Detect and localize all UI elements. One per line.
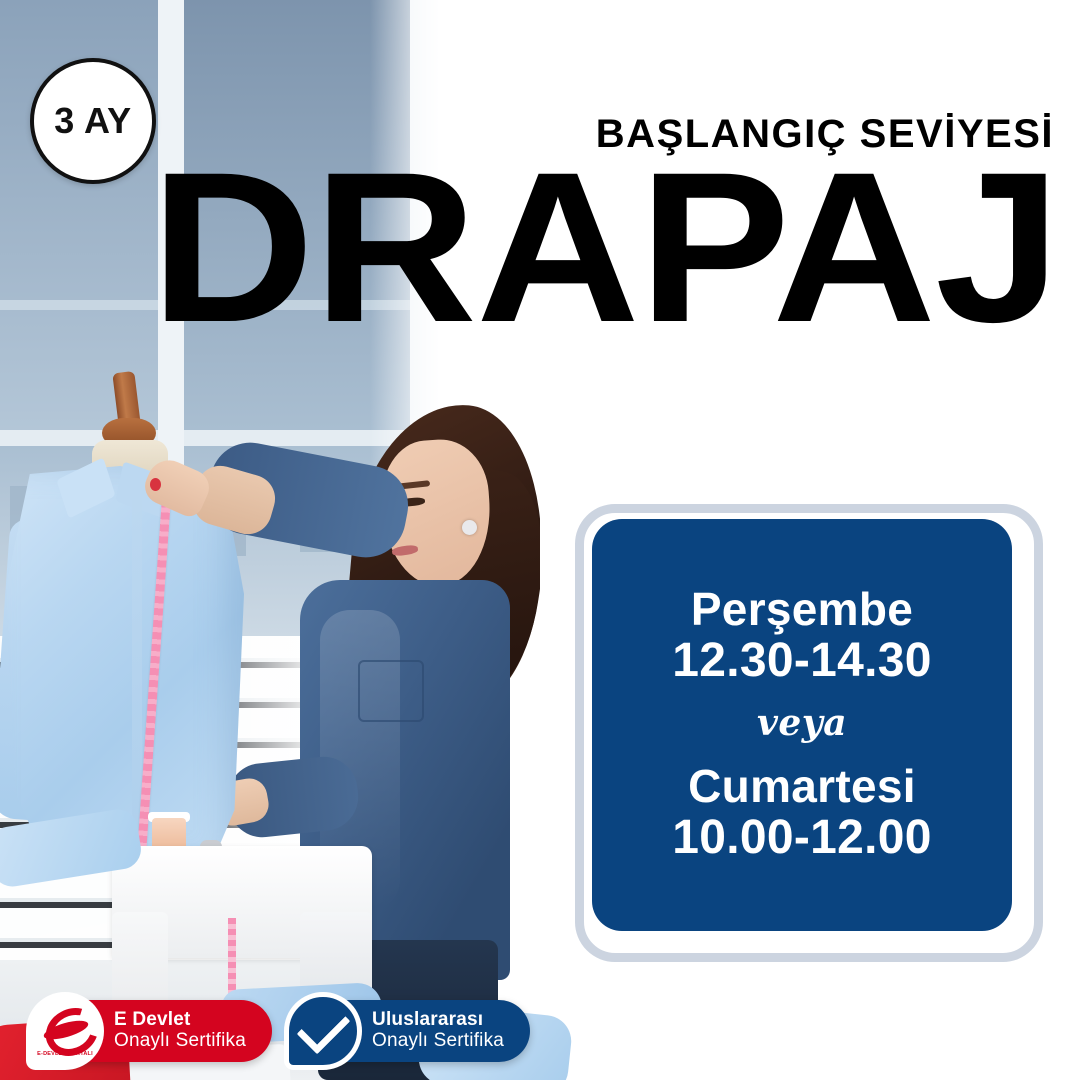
schedule-slot-1: Perşembe 12.30-14.30 [672, 585, 932, 688]
schedule-day-1: Perşembe [672, 585, 932, 633]
check-bubble [284, 992, 362, 1070]
badge-edevlet-text: E Devlet Onaylı Sertifika [114, 1010, 246, 1051]
certificate-badges: ★ E-DEVLET PORTALI E Devlet Onaylı Serti… [36, 1000, 530, 1062]
model-fingernail [150, 478, 161, 491]
star-icon: ★ [77, 1010, 89, 1023]
edevlet-icon: ★ E-DEVLET PORTALI [37, 1007, 93, 1055]
badge-international-subtitle: Onaylı Sertifika [372, 1031, 504, 1052]
badge-international: Uluslararası Onaylı Sertifika [294, 1000, 530, 1062]
schedule-slot-2: Cumartesi 10.00-12.00 [672, 762, 932, 865]
page-title: DRAPAJ [150, 150, 1060, 347]
duration-badge-label: 3 AY [54, 100, 131, 142]
model-earring [462, 520, 477, 535]
badge-edevlet-title: E Devlet [114, 1010, 246, 1031]
schedule-time-2: 10.00-12.00 [672, 810, 932, 865]
badge-international-title: Uluslararası [372, 1010, 504, 1031]
course-promo-poster: 3 AY BAŞLANGIÇ SEVİYESİ DRAPAJ Perşembe … [0, 0, 1080, 1080]
badge-international-text: Uluslararası Onaylı Sertifika [372, 1010, 504, 1051]
badge-edevlet-subtitle: Onaylı Sertifika [114, 1031, 246, 1052]
schedule-card: Perşembe 12.30-14.30 veya Cumartesi 10.0… [592, 519, 1012, 931]
check-icon [296, 1000, 350, 1054]
schedule-time-1: 12.30-14.30 [672, 633, 932, 688]
edevlet-logo-bubble: ★ E-DEVLET PORTALI [26, 992, 104, 1070]
schedule-separator: veya [757, 702, 847, 744]
light-blue-shirt [6, 466, 244, 866]
edevlet-logo-caption: E-DEVLET PORTALI [37, 1051, 93, 1057]
duration-badge: 3 AY [30, 58, 156, 184]
badge-edevlet: ★ E-DEVLET PORTALI E Devlet Onaylı Serti… [36, 1000, 272, 1062]
schedule-day-2: Cumartesi [672, 762, 932, 810]
